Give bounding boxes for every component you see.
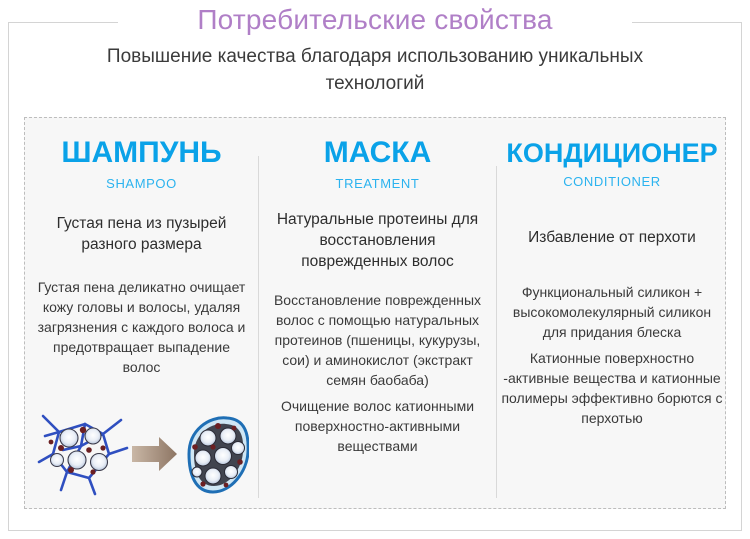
column-shampoo: ШАМПУНЬ SHAMPOO Густая пена из пузырей р… bbox=[25, 118, 258, 377]
content-panel: ШАМПУНЬ SHAMPOO Густая пена из пузырей р… bbox=[24, 117, 726, 509]
column-heading-en-conditioner: CONDITIONER bbox=[501, 174, 723, 189]
column-heading-ru-conditioner: КОНДИЦИОНЕР bbox=[501, 139, 723, 167]
frame-border-bottom bbox=[8, 530, 742, 531]
column-heading-ru-shampoo: ШАМПУНЬ bbox=[33, 137, 250, 169]
page-title: Потребительские свойства bbox=[0, 0, 750, 40]
frame-border-right bbox=[741, 22, 742, 531]
column-paragraph-treatment-1: Восстановление поврежденных волос с помо… bbox=[265, 290, 490, 390]
page-subtitle: Повышение качества благодаря использован… bbox=[65, 43, 685, 97]
micelle-foam-diagram-icon bbox=[37, 406, 249, 502]
column-heading-en-treatment: TREATMENT bbox=[265, 176, 490, 191]
column-paragraph-conditioner-1: Функциональный силикон + высокомолекуляр… bbox=[501, 282, 723, 342]
frame-border-left bbox=[8, 22, 9, 531]
column-heading-en-shampoo: SHAMPOO bbox=[33, 176, 250, 191]
column-treatment: МАСКА TREATMENT Натуральные протеины для… bbox=[259, 118, 496, 456]
column-paragraph-conditioner-2: Катионные поверхностно -активные веществ… bbox=[501, 348, 723, 428]
column-paragraph-treatment-2: Очищение волос катионными поверхностно-а… bbox=[265, 396, 490, 456]
column-heading-ru-treatment: МАСКА bbox=[265, 137, 490, 169]
column-paragraph-shampoo-1: Густая пена деликатно очищает кожу голов… bbox=[33, 277, 250, 377]
column-conditioner: КОНДИЦИОНЕР CONDITIONER Избавление от пе… bbox=[497, 118, 727, 428]
column-lead-treatment: Натуральные протеины для восстановления … bbox=[265, 209, 490, 272]
column-lead-conditioner: Избавление от перхоти bbox=[501, 227, 723, 248]
column-lead-shampoo: Густая пена из пузырей разного размера bbox=[33, 213, 250, 255]
slide-root: Потребительские свойства Повышение качес… bbox=[0, 0, 750, 539]
